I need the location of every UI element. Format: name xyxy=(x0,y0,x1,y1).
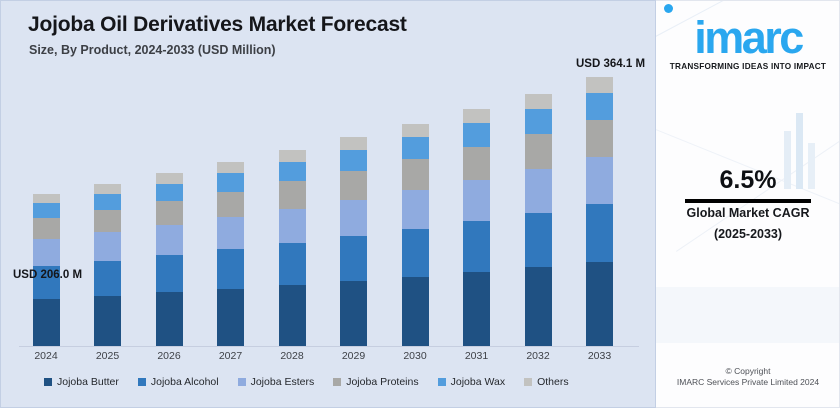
bar-segment-others xyxy=(463,109,490,123)
legend-item-others[interactable]: Others xyxy=(524,376,569,388)
bar-segment-jojoba-proteins xyxy=(340,171,367,200)
legend-swatch-icon xyxy=(138,378,146,386)
bar-2025 xyxy=(94,184,121,346)
bar-segment-jojoba-esters xyxy=(586,157,613,204)
bar-segment-others xyxy=(340,137,367,150)
bar-2030 xyxy=(402,124,429,346)
bar-segment-jojoba-esters xyxy=(156,225,183,255)
bar-segment-jojoba-alcohol xyxy=(463,221,490,272)
infographic-root: Jojoba Oil Derivatives Market Forecast S… xyxy=(0,0,840,408)
bar-segment-jojoba-proteins xyxy=(279,181,306,208)
brand-panel: imarc TRANSFORMING IDEAS INTO IMPACT 6.5… xyxy=(656,0,840,408)
bar-segment-jojoba-wax xyxy=(525,109,552,134)
bar-segment-jojoba-wax xyxy=(217,173,244,191)
x-axis-label-2028: 2028 xyxy=(262,350,322,362)
logo-dot-icon xyxy=(664,4,673,13)
legend-swatch-icon xyxy=(524,378,532,386)
end-value-label: USD 364.1 M xyxy=(576,58,645,70)
bar-segment-jojoba-esters xyxy=(340,200,367,237)
bar-segment-others xyxy=(156,173,183,184)
legend-label: Jojoba Alcohol xyxy=(151,376,219,388)
bar-segment-jojoba-wax xyxy=(340,150,367,171)
bar-segment-jojoba-wax xyxy=(156,184,183,201)
copyright-line-2: IMARC Services Private Limited 2024 xyxy=(656,377,840,387)
bar-2032 xyxy=(525,94,552,346)
bar-segment-jojoba-alcohol xyxy=(586,204,613,262)
copyright-line-1: © Copyright xyxy=(656,366,840,376)
legend-label: Jojoba Esters xyxy=(251,376,315,388)
bar-segment-jojoba-wax xyxy=(463,123,490,147)
bar-segment-others xyxy=(33,194,60,203)
bar-2031 xyxy=(463,109,490,346)
bar-2029 xyxy=(340,137,367,346)
x-axis-label-2027: 2027 xyxy=(201,350,261,362)
bar-segment-others xyxy=(402,124,429,137)
legend-item-jojoba-butter[interactable]: Jojoba Butter xyxy=(44,376,119,388)
legend-item-jojoba-wax[interactable]: Jojoba Wax xyxy=(438,376,505,388)
axis-baseline xyxy=(19,346,639,347)
x-axis-label-2033: 2033 xyxy=(570,350,630,362)
legend-item-jojoba-esters[interactable]: Jojoba Esters xyxy=(238,376,315,388)
chart-legend: Jojoba ButterJojoba AlcoholJojoba Esters… xyxy=(1,371,657,393)
legend-swatch-icon xyxy=(44,378,52,386)
bar-segment-others xyxy=(217,162,244,173)
cagr-caption-period: (2025-2033) xyxy=(656,227,840,241)
legend-swatch-icon xyxy=(438,378,446,386)
bar-segment-jojoba-esters xyxy=(217,217,244,249)
bar-segment-jojoba-proteins xyxy=(525,134,552,169)
bar-segment-jojoba-esters xyxy=(463,180,490,221)
bar-segment-others xyxy=(586,77,613,93)
bar-segment-jojoba-esters xyxy=(525,169,552,213)
bar-segment-jojoba-wax xyxy=(279,162,306,182)
legend-label: Jojoba Wax xyxy=(451,376,505,388)
bar-chart-plot: 2024202520262027202820292030203120322033… xyxy=(1,1,657,357)
bar-segment-jojoba-butter xyxy=(463,272,490,346)
logo-wordmark: imarc xyxy=(694,15,802,60)
bar-segment-jojoba-alcohol xyxy=(217,249,244,289)
bar-segment-jojoba-proteins xyxy=(463,147,490,180)
bar-2028 xyxy=(279,150,306,346)
bar-segment-others xyxy=(94,184,121,194)
cagr-caption-primary: Global Market CAGR xyxy=(656,206,840,220)
bar-segment-jojoba-alcohol xyxy=(525,213,552,267)
bar-segment-jojoba-wax xyxy=(586,93,613,120)
bar-segment-jojoba-wax xyxy=(33,203,60,218)
bar-segment-jojoba-alcohol xyxy=(94,261,121,296)
bar-segment-jojoba-alcohol xyxy=(156,255,183,292)
bar-segment-jojoba-proteins xyxy=(217,192,244,217)
bar-segment-jojoba-proteins xyxy=(94,210,121,232)
bar-segment-jojoba-esters xyxy=(402,190,429,229)
x-axis-label-2025: 2025 xyxy=(78,350,138,362)
bar-segment-jojoba-proteins xyxy=(156,201,183,225)
bar-segment-jojoba-butter xyxy=(340,281,367,346)
x-axis-label-2024: 2024 xyxy=(16,350,76,362)
legend-swatch-icon xyxy=(333,378,341,386)
bar-segment-jojoba-wax xyxy=(94,194,121,210)
bar-2027 xyxy=(217,162,244,346)
bar-segment-jojoba-butter xyxy=(33,299,60,346)
x-axis-label-2029: 2029 xyxy=(324,350,384,362)
bar-segment-jojoba-butter xyxy=(586,262,613,346)
legend-item-jojoba-alcohol[interactable]: Jojoba Alcohol xyxy=(138,376,219,388)
bar-segment-jojoba-alcohol xyxy=(340,236,367,281)
bar-segment-jojoba-proteins xyxy=(33,218,60,239)
legend-label: Jojoba Butter xyxy=(57,376,119,388)
legend-item-jojoba-proteins[interactable]: Jojoba Proteins xyxy=(333,376,418,388)
chart-panel: Jojoba Oil Derivatives Market Forecast S… xyxy=(0,0,656,408)
bar-segment-jojoba-proteins xyxy=(402,159,429,190)
bar-segment-jojoba-esters xyxy=(94,232,121,260)
start-value-label: USD 206.0 M xyxy=(13,269,82,281)
bar-segment-others xyxy=(279,150,306,162)
logo-tagline: TRANSFORMING IDEAS INTO IMPACT xyxy=(656,62,840,71)
legend-label: Jojoba Proteins xyxy=(346,376,418,388)
bar-2033 xyxy=(586,77,613,346)
bar-segment-jojoba-esters xyxy=(33,239,60,266)
bar-segment-jojoba-butter xyxy=(279,285,306,346)
cagr-value: 6.5% xyxy=(656,166,840,195)
bar-segment-jojoba-esters xyxy=(279,209,306,243)
x-axis-label-2030: 2030 xyxy=(385,350,445,362)
bar-segment-jojoba-proteins xyxy=(586,120,613,157)
bar-segment-jojoba-butter xyxy=(217,289,244,346)
bar-segment-jojoba-alcohol xyxy=(402,229,429,277)
bar-segment-jojoba-alcohol xyxy=(279,243,306,285)
decorative-panel xyxy=(656,287,840,343)
legend-swatch-icon xyxy=(238,378,246,386)
imarc-logo: imarc TRANSFORMING IDEAS INTO IMPACT xyxy=(656,15,840,71)
bar-segment-jojoba-butter xyxy=(525,267,552,346)
x-axis-label-2026: 2026 xyxy=(139,350,199,362)
bar-2026 xyxy=(156,173,183,346)
bar-segment-jojoba-wax xyxy=(402,137,429,159)
bar-segment-jojoba-butter xyxy=(402,277,429,346)
bar-segment-jojoba-butter xyxy=(156,292,183,346)
x-axis-label-2032: 2032 xyxy=(508,350,568,362)
legend-label: Others xyxy=(537,376,569,388)
x-axis-label-2031: 2031 xyxy=(447,350,507,362)
cagr-divider xyxy=(685,199,811,203)
bar-segment-others xyxy=(525,94,552,109)
bar-segment-jojoba-butter xyxy=(94,296,121,346)
